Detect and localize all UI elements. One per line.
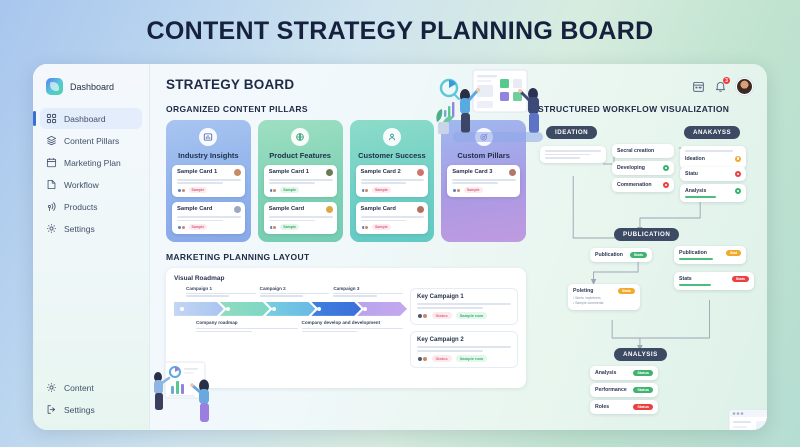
pillar-card-industry-insights[interactable]: Industry Insights Sample Card 1 Sample [166, 120, 251, 242]
sidebar-item-content-pillars[interactable]: Content Pillars [40, 130, 142, 151]
sidebar-item-label: Settings [64, 224, 95, 234]
assignee-avatars [177, 188, 186, 193]
bullet-item: Sample commenta [573, 301, 635, 306]
note-text: Company roadmap [196, 320, 298, 326]
task-label: Publication [679, 250, 707, 256]
key-campaign-card[interactable]: Key Campaign 2 Status Sample now [410, 331, 518, 368]
key-campaign-card[interactable]: Key Campaign 1 Status Sample now [410, 288, 518, 325]
avatar [417, 206, 424, 213]
page-title: CONTENT STRATEGY PLANNING BOARD [0, 0, 800, 44]
card-title: Sample Card [177, 206, 212, 212]
card-placeholder-lines [361, 216, 425, 221]
roadmap-arrow [220, 302, 270, 316]
sample-chip: Sample now [456, 355, 487, 362]
pillar-sample-card[interactable]: Sample Card 1 Sample [172, 165, 245, 197]
assignee-avatars [417, 313, 428, 319]
bell-icon[interactable]: 3 [714, 80, 727, 93]
card-title: Sample Card 2 [361, 169, 401, 175]
sidebar-item-workflow[interactable]: Workflow [40, 174, 142, 195]
task-label: Analysis [685, 188, 706, 194]
document-icon [46, 179, 57, 190]
card-chip: Sample [189, 187, 208, 193]
card-placeholder-lines [177, 179, 241, 184]
roadmap-arrow [311, 302, 361, 316]
globe-icon [291, 128, 309, 146]
sidebar-item-label: Workflow [64, 180, 99, 190]
task-label: Poleting [573, 288, 593, 294]
roadmap-notes-row: Company roadmap Company develop and deve… [174, 320, 403, 332]
avatar [417, 169, 424, 176]
assignee-avatars [452, 188, 461, 193]
workflow-stage-anakayss[interactable]: ANAKAYSS [684, 126, 740, 139]
task-label: Roles [595, 404, 609, 410]
gear-icon [46, 223, 57, 234]
workflow-analysis-row-analysis[interactable]: AnalysisStatus [590, 366, 658, 380]
notification-badge: 3 [723, 77, 730, 84]
pillar-title: Product Features [269, 151, 331, 160]
card-placeholder-lines [269, 179, 333, 184]
bar-chart-icon [199, 128, 217, 146]
card-placeholder-lines [177, 216, 241, 221]
avatar [326, 206, 333, 213]
card-title: Sample Card 1 [269, 169, 309, 175]
card-chip: Sample [280, 224, 299, 230]
task-label: Developing [617, 165, 645, 171]
logout-icon [46, 404, 57, 415]
card-chip: Sample [189, 224, 208, 230]
sidebar-item-label: Dashboard [64, 114, 106, 124]
avatar [326, 169, 333, 176]
pillar-card-customer-success[interactable]: Customer Success Sample Card 2 Sample [350, 120, 435, 242]
avatar [234, 206, 241, 213]
grid-icon [46, 113, 57, 124]
roadmap-campaign-label: Campaign 1 [186, 286, 256, 296]
roadmap-arrow [174, 302, 224, 316]
card-chip: Sample [372, 187, 391, 193]
sidebar-item-label: Marketing Plan [64, 158, 121, 168]
pillar-sample-card[interactable]: Sample Card Sample [172, 202, 245, 234]
header-actions: 3 [692, 77, 753, 95]
workflow-task-secral-creation[interactable]: Secral creation [612, 144, 674, 158]
sidebar-bottom-nav: Content Settings [33, 377, 149, 420]
avatar [509, 169, 516, 176]
workflow-stage-analysis[interactable]: ANALYSIS [614, 348, 667, 361]
workflow-section-label: STRUCTURED WORKFLOW VISUALIZATION [538, 104, 753, 114]
assignee-avatars [361, 188, 370, 193]
progress-bar [685, 196, 716, 198]
roadmap-arrow-chain [174, 302, 403, 316]
planning-section-label: MARKETING PLANNING LAYOUT [166, 252, 526, 262]
status-tag: Status [633, 370, 653, 376]
workflow-stage-ideation[interactable]: IDEATION [546, 126, 597, 139]
roadmap-note: Company roadmap [196, 320, 298, 332]
card-title: Sample Card 1 [177, 169, 217, 175]
task-label: Ideation [685, 156, 705, 162]
layers-icon [46, 135, 57, 146]
card-title: Sample Card [269, 206, 304, 212]
status-green-icon [735, 188, 741, 194]
sidebar-item-content[interactable]: Content [40, 377, 142, 398]
broadcast-icon [46, 201, 57, 212]
workflow-task-statu[interactable]: Statu [680, 167, 746, 181]
progress-bar [679, 284, 711, 286]
avatar [234, 169, 241, 176]
status-red-icon [663, 182, 669, 188]
campaign-label: Campaign 1 [186, 286, 256, 291]
workflow-task-developing[interactable]: Developing [612, 161, 674, 175]
roadmap-arrow [266, 302, 316, 316]
sidebar-nav: Dashboard Content Pillars Marketing Plan… [33, 108, 149, 239]
pillar-title: Customer Success [358, 151, 426, 160]
workflow-publication-card[interactable]: PublicationStats [590, 248, 652, 262]
pillar-card-product-features[interactable]: Product Features Sample Card 1 Sample [258, 120, 343, 242]
sidebar-spacer [33, 239, 149, 377]
roadmap-people-illustration [151, 358, 231, 428]
pillar-sample-card[interactable]: Sample Card Sample [264, 202, 337, 234]
assignee-avatars [417, 356, 428, 362]
board-title: STRATEGY BOARD [166, 77, 294, 92]
pillar-title: Custom Pillars [457, 151, 510, 160]
status-green-icon [663, 165, 669, 171]
avatar[interactable] [736, 78, 753, 95]
card-placeholder-lines [452, 179, 516, 184]
workflow-stats-card[interactable]: StatsStats [674, 272, 754, 290]
sidebar-item-label: Products [64, 202, 98, 212]
workflow-stage-publication[interactable]: PUBLICATION [614, 228, 679, 241]
task-label: Publication [595, 252, 623, 258]
workflow-canvas: IDEATION Secral creation Developing Comm… [538, 120, 753, 388]
card-placeholder-lines [361, 179, 425, 184]
task-label: Secral creation [617, 148, 654, 154]
analytics-team-illustration [711, 404, 767, 430]
roadmap-campaign-label: Campaign 2 [260, 286, 330, 296]
sidebar-item-label: Settings [64, 405, 95, 415]
workflow-task-commenation[interactable]: Commenation [612, 178, 674, 192]
pillar-title: Industry Insights [178, 151, 238, 160]
app-logo-icon [46, 78, 63, 95]
card-placeholder-lines [269, 216, 333, 221]
assignee-avatars [269, 188, 278, 193]
polishing-bullets: Wurtu impleteers Sample commenta [573, 296, 635, 306]
users-icon [383, 128, 401, 146]
pillar-sample-card[interactable]: Sample Card 3 Sample [447, 165, 520, 197]
roadmap-arrow [357, 302, 407, 316]
workflow-visualization: IDEATION Secral creation Developing Comm… [538, 120, 753, 430]
card-title: Sample Card [361, 206, 396, 212]
roadmap-campaign-label: Campaign 3 [333, 286, 403, 296]
workflow-anakayss-panel[interactable]: Ideation [680, 146, 746, 169]
workflow-analysis-row-performance[interactable]: PerformanceStatus [590, 383, 658, 397]
calendar-icon [46, 157, 57, 168]
content-columns: ORGANIZED CONTENT PILLARS Industry Insig… [166, 95, 753, 430]
sample-chip: Sample now [456, 312, 487, 319]
pillar-sample-card[interactable]: Sample Card 2 Sample [356, 165, 429, 197]
status-red-icon [735, 171, 741, 177]
status-tag: Stats [732, 276, 749, 282]
status-tag: Stats [630, 252, 647, 258]
status-chip: Status [432, 355, 452, 362]
task-label: Commenation [617, 182, 652, 188]
pillar-sample-card[interactable]: Sample Card 1 Sample [264, 165, 337, 197]
brand-name: Dashboard [70, 82, 114, 92]
sidebar-item-settings[interactable]: Settings [40, 218, 142, 239]
sidebar-item-marketing-plan[interactable]: Marketing Plan [40, 152, 142, 173]
task-label: Stats [679, 276, 692, 282]
sidebar-item-products[interactable]: Products [40, 196, 142, 217]
assignee-avatars [269, 225, 278, 230]
assignee-avatars [177, 225, 186, 230]
sidebar-item-logout-settings[interactable]: Settings [40, 399, 142, 420]
task-label: Analysis [595, 370, 616, 376]
brand: Dashboard [33, 76, 149, 108]
app-window: Dashboard Dashboard Content Pillars Mark… [33, 64, 767, 430]
card-chip: Sample [280, 187, 299, 193]
roadmap-title: Visual Roadmap [174, 275, 403, 282]
status-tag: Status [633, 404, 653, 410]
sidebar-item-label: Content [64, 383, 94, 393]
right-column: STRUCTURED WORKFLOW VISUALIZATION [538, 95, 753, 430]
sidebar-item-dashboard[interactable]: Dashboard [40, 108, 142, 129]
task-label: Statu [685, 171, 698, 177]
status-chip: Status [432, 312, 452, 319]
campaign-label: Campaign 3 [333, 286, 403, 291]
card-chip: Sample [372, 224, 391, 230]
task-label: Performance [595, 387, 627, 393]
workflow-ideation-skeleton-card[interactable] [540, 146, 606, 163]
status-tag: Stats [618, 288, 635, 294]
team-board-illustration [433, 66, 553, 144]
progress-bar [679, 258, 713, 260]
roadmap-labels-row: Campaign 1 Campaign 2 Campaign 3 [174, 286, 403, 296]
workflow-polishing-card[interactable]: PoletingStats Wurtu impleteers Sample co… [568, 284, 640, 310]
roadmap-note: Company develop and development [302, 320, 404, 332]
sidebar-item-label: Content Pillars [64, 136, 119, 146]
assignee-avatars [361, 225, 370, 230]
key-campaign-title: Key Campaign 2 [417, 337, 511, 343]
note-text: Company develop and development [302, 320, 404, 326]
workflow-analysis-row-roles[interactable]: RolesStatus [590, 400, 658, 414]
key-campaigns-column: Key Campaign 1 Status Sample now Key Cam… [410, 275, 518, 381]
workflow-task-analysis[interactable]: Analysis [680, 184, 746, 202]
calendar-icon[interactable] [692, 80, 705, 93]
card-chip: Sample [464, 187, 483, 193]
gear-icon [46, 382, 57, 393]
key-campaign-title: Key Campaign 1 [417, 294, 511, 300]
status-orange-icon [735, 156, 741, 162]
campaign-label: Campaign 2 [260, 286, 330, 291]
card-title: Sample Card 3 [452, 169, 492, 175]
sidebar: Dashboard Dashboard Content Pillars Mark… [33, 64, 150, 430]
workflow-publication-progress-card[interactable]: PublicationStat [674, 246, 746, 264]
status-tag: Status [633, 387, 653, 393]
status-tag: Stat [726, 250, 741, 256]
pillar-sample-card[interactable]: Sample Card Sample [356, 202, 429, 234]
